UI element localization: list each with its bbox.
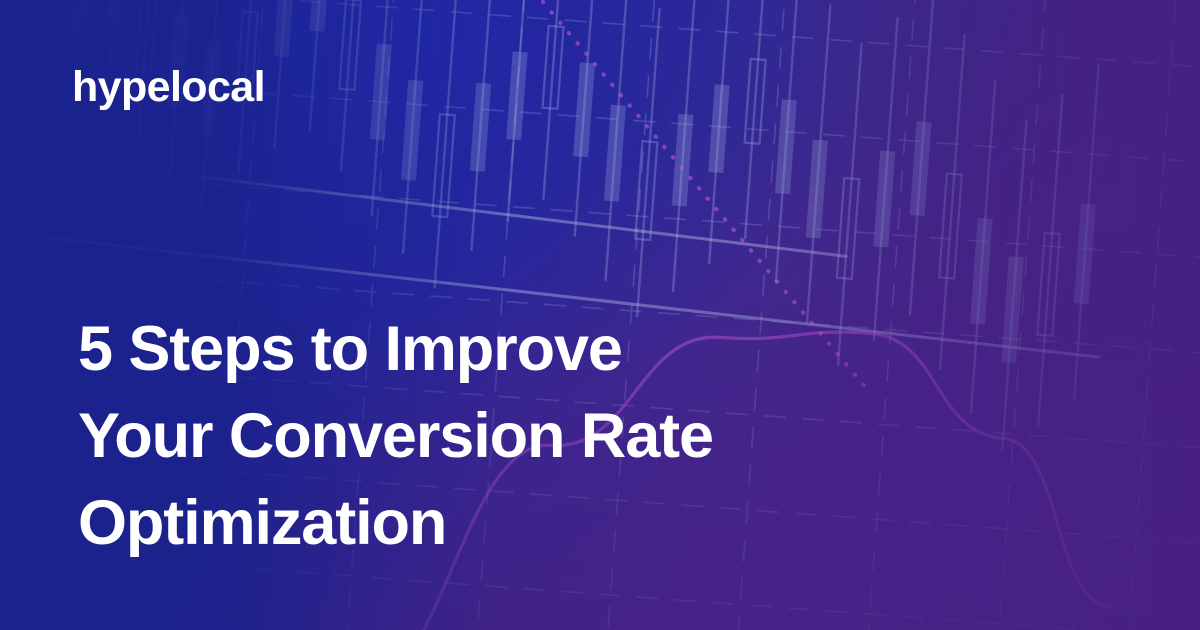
card-content: hypelocal 5 Steps to Improve Your Conver… <box>0 0 1200 630</box>
headline-line-3: Optimization <box>78 480 978 567</box>
headline-line-2: Your Conversion Rate <box>78 393 978 480</box>
brand-logo[interactable]: hypelocal <box>72 66 265 109</box>
social-share-card: hypelocal 5 Steps to Improve Your Conver… <box>0 0 1200 630</box>
headline-line-1: 5 Steps to Improve <box>78 306 978 393</box>
page-title: 5 Steps to Improve Your Conversion Rate … <box>78 306 978 567</box>
